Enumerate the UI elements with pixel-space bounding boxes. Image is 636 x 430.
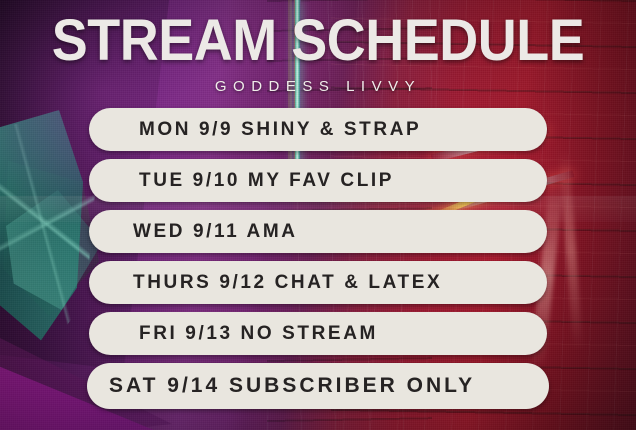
- schedule-item-label: MON 9/9 SHINY & STRAP: [89, 119, 421, 141]
- list-item[interactable]: TUE 9/10 MY FAV CLIP: [89, 159, 547, 202]
- page-title: STREAM SCHEDULE: [22, 12, 613, 70]
- schedule-item-label: THURS 9/12 CHAT & LATEX: [89, 272, 442, 294]
- schedule-item-label: SAT 9/14 SUBSCRIBER ONLY: [87, 374, 475, 398]
- schedule-list: MON 9/9 SHINY & STRAP TUE 9/10 MY FAV CL…: [0, 108, 636, 417]
- list-item[interactable]: MON 9/9 SHINY & STRAP: [89, 108, 547, 151]
- list-item[interactable]: THURS 9/12 CHAT & LATEX: [89, 261, 547, 304]
- page-subtitle: GODDESS LIVVY: [0, 78, 636, 95]
- schedule-item-label: WED 9/11 AMA: [89, 221, 298, 243]
- list-item[interactable]: WED 9/11 AMA: [89, 210, 547, 253]
- poster-content: STREAM SCHEDULE GODDESS LIVVY MON 9/9 SH…: [0, 0, 636, 430]
- list-item[interactable]: FRI 9/13 NO STREAM: [89, 312, 547, 355]
- schedule-item-label: FRI 9/13 NO STREAM: [89, 323, 378, 345]
- stream-schedule-poster: STREAM SCHEDULE GODDESS LIVVY MON 9/9 SH…: [0, 0, 636, 430]
- list-item[interactable]: SAT 9/14 SUBSCRIBER ONLY: [87, 363, 549, 409]
- schedule-item-label: TUE 9/10 MY FAV CLIP: [89, 170, 394, 192]
